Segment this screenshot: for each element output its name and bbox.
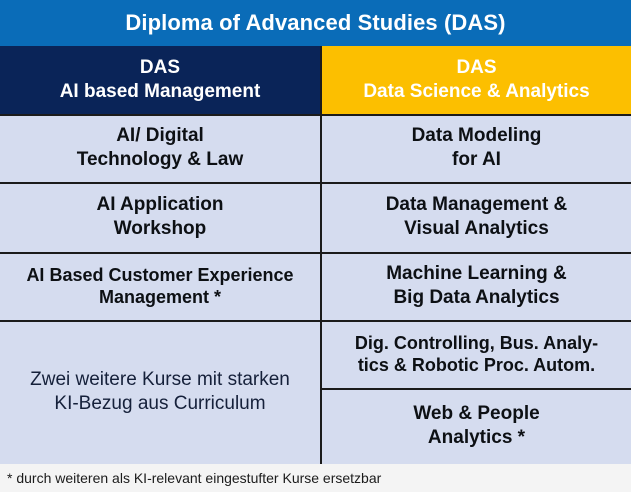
diploma-structure-table: Diploma of Advanced Studies (DAS) DAS AI…: [0, 0, 631, 492]
course-line2: Analytics *: [413, 426, 539, 450]
column-header-ai-based-management: DAS AI based Management: [0, 46, 320, 114]
column-header-line2: AI based Management: [60, 80, 261, 104]
column-header-line2: Data Science & Analytics: [363, 80, 589, 104]
course-line2: Visual Analytics: [386, 217, 568, 241]
course-line2: KI-Bezug aus Curriculum: [30, 392, 290, 416]
footnote-text: * durch weiteren als KI-relevant eingest…: [7, 471, 381, 485]
course-line1: AI Based Customer Experience: [26, 264, 293, 286]
row-divider: [322, 182, 631, 184]
course-cell-machine-learning-big-data-analytics[interactable]: Machine Learning & Big Data Analytics: [322, 252, 631, 320]
row-divider: [0, 114, 320, 116]
course-line2: Big Data Analytics: [386, 286, 567, 310]
row-divider: [0, 320, 320, 322]
column-header-line1: DAS: [363, 56, 589, 80]
course-line1: Machine Learning &: [386, 262, 567, 286]
course-line2: Management *: [26, 286, 293, 308]
course-cell-data-modeling-for-ai[interactable]: Data Modeling for AI: [322, 114, 631, 182]
row-divider: [0, 252, 320, 254]
row-divider: [322, 114, 631, 116]
column-header-line1: DAS: [60, 56, 261, 80]
curriculum-table: DAS AI based Management AI/ Digital Tech…: [0, 46, 631, 464]
course-line2: for AI: [412, 148, 542, 172]
course-line1: Zwei weitere Kurse mit starken: [30, 368, 290, 392]
course-line1: Web & People: [413, 402, 539, 426]
course-cell-web-people-analytics[interactable]: Web & People Analytics *: [322, 388, 631, 464]
row-divider: [322, 388, 631, 390]
column-header-data-science-analytics: DAS Data Science & Analytics: [322, 46, 631, 114]
course-cell-zwei-weitere-kurse[interactable]: Zwei weitere Kurse mit starken KI-Bezug …: [0, 320, 320, 464]
course-line1: AI/ Digital: [77, 124, 243, 148]
course-cell-ai-application-workshop[interactable]: AI Application Workshop: [0, 182, 320, 252]
row-divider: [322, 320, 631, 322]
column-ai-based-management: DAS AI based Management AI/ Digital Tech…: [0, 46, 320, 464]
course-cell-ai-based-customer-experience-management[interactable]: AI Based Customer Experience Management …: [0, 252, 320, 320]
course-line1: Data Management &: [386, 193, 568, 217]
course-cell-ai-digital-technology-law[interactable]: AI/ Digital Technology & Law: [0, 114, 320, 182]
footnote-area: * durch weiteren als KI-relevant eingest…: [0, 464, 631, 492]
course-line1: Data Modeling: [412, 124, 542, 148]
course-line2: tics & Robotic Proc. Autom.: [355, 354, 598, 376]
column-data-science-analytics: DAS Data Science & Analytics Data Modeli…: [322, 46, 631, 464]
course-line2: Technology & Law: [77, 148, 243, 172]
course-cell-dig-controlling-bus-analytics-rpa[interactable]: Dig. Controlling, Bus. Analy- tics & Rob…: [322, 320, 631, 388]
row-divider: [0, 182, 320, 184]
column-divider: [320, 46, 322, 464]
course-line1: Dig. Controlling, Bus. Analy-: [355, 332, 598, 354]
row-divider: [322, 252, 631, 254]
course-line1: AI Application: [96, 193, 223, 217]
program-title-bar: Diploma of Advanced Studies (DAS): [0, 0, 631, 46]
course-line2: Workshop: [96, 217, 223, 241]
page-title: Diploma of Advanced Studies (DAS): [125, 12, 505, 34]
course-cell-data-management-visual-analytics[interactable]: Data Management & Visual Analytics: [322, 182, 631, 252]
